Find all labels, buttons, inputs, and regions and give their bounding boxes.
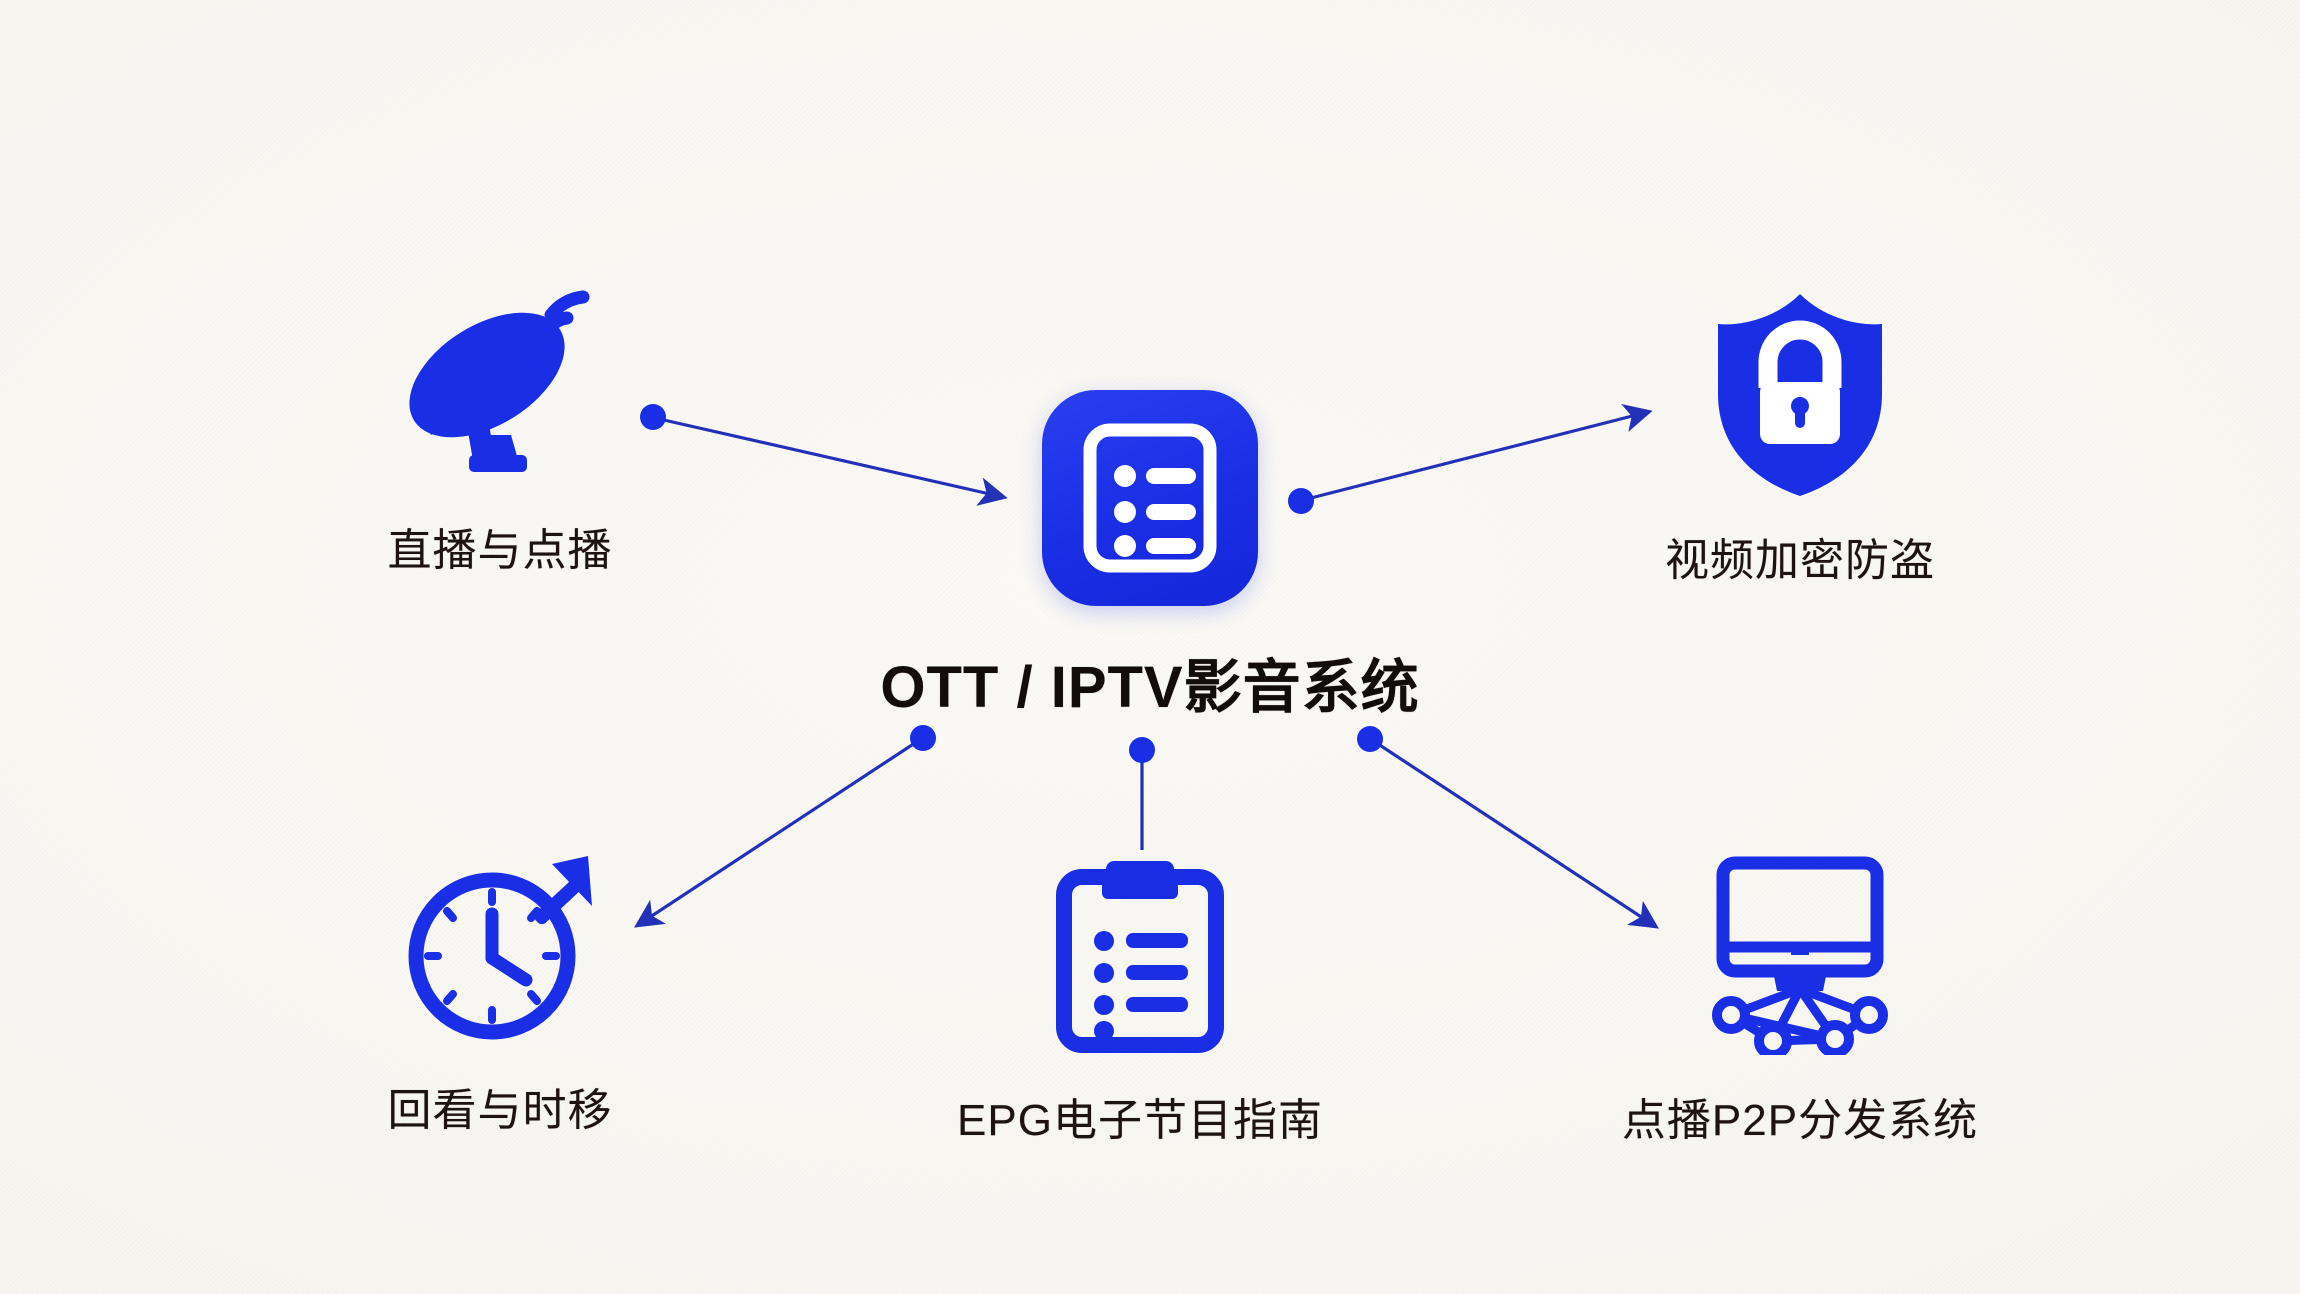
shield-lock-icon [1685, 280, 1915, 510]
diagram-canvas: OTT / IPTV影音系统 直 [0, 0, 2300, 1294]
node-live[interactable]: 直播与点播 [290, 270, 710, 578]
node-timeshift-label: 回看与时移 [388, 1074, 613, 1138]
edge-hub-to-epg [1129, 737, 1155, 850]
node-drm-label: 视频加密防盗 [1665, 524, 1935, 588]
hub-node[interactable]: OTT / IPTV影音系统 [950, 390, 1350, 724]
node-p2p[interactable]: 点播P2P分发系统 [1590, 840, 2010, 1148]
node-p2p-label: 点播P2P分发系统 [1622, 1084, 1978, 1148]
clock-arrow-icon [385, 830, 615, 1060]
node-epg[interactable]: EPG电子节目指南 [930, 840, 1350, 1148]
clipboard-list-icon [1025, 840, 1255, 1070]
node-timeshift[interactable]: 回看与时移 [290, 830, 710, 1138]
hub-title: OTT / IPTV影音系统 [880, 640, 1419, 724]
node-epg-label: EPG电子节目指南 [957, 1084, 1323, 1148]
monitor-network-icon [1685, 840, 1915, 1070]
node-drm[interactable]: 视频加密防盗 [1590, 280, 2010, 588]
satellite-dish-icon [385, 270, 615, 500]
node-live-label: 直播与点播 [388, 514, 613, 578]
list-document-icon [1042, 390, 1258, 606]
